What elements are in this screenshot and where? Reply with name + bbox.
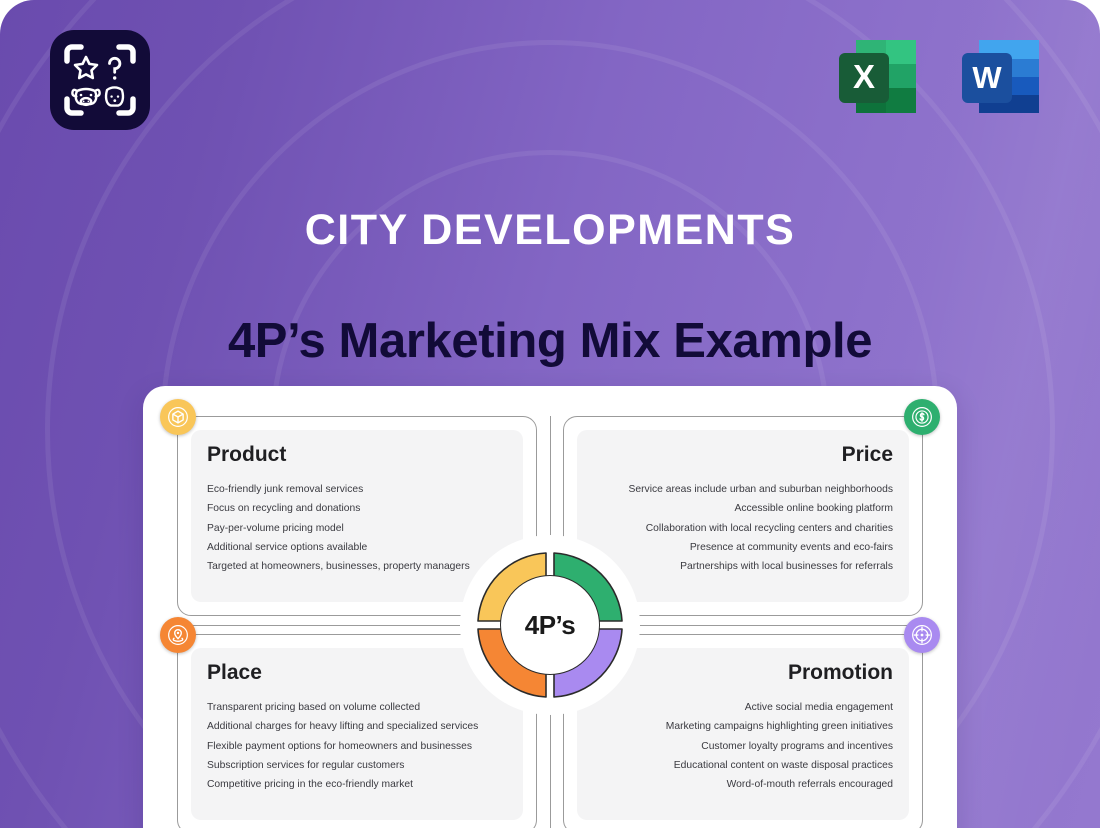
- excel-icon[interactable]: X: [830, 28, 927, 125]
- list-item: Additional charges for heavy lifting and…: [207, 717, 507, 736]
- list-item: Additional service options available: [207, 538, 507, 557]
- page-title: 4P’s Marketing Mix Example: [0, 313, 1100, 369]
- list-item: Active social media engagement: [593, 698, 893, 717]
- quadrant-bullets: Transparent pricing based on volume coll…: [207, 698, 507, 794]
- center-donut: 4P’s: [468, 543, 632, 707]
- quadrant-title: Place: [207, 661, 507, 685]
- donut-center: 4P’s: [500, 575, 600, 675]
- page-kicker: CITY DEVELOPMENTS: [0, 206, 1100, 255]
- list-item: Customer loyalty programs and incentives: [593, 737, 893, 756]
- list-item: Educational content on waste disposal pr…: [593, 756, 893, 775]
- list-item: Eco-friendly junk removal services: [207, 480, 507, 499]
- word-icon[interactable]: W: [953, 28, 1050, 125]
- poster-page: X W CITY DEVELOPMENTS 4P’s Marketing Mix…: [0, 0, 1100, 828]
- location-pin-icon: [160, 617, 196, 653]
- svg-text:X: X: [853, 58, 875, 95]
- list-item: Subscription services for regular custom…: [207, 756, 507, 775]
- list-item: Focus on recycling and donations: [207, 499, 507, 518]
- export-icons: X W: [830, 28, 1050, 125]
- diagram-card: Product Eco-friendly junk removal servic…: [143, 386, 957, 828]
- quadrant-bullets: Active social media engagement Marketing…: [593, 698, 893, 794]
- quadrant-title: Price: [593, 443, 893, 467]
- dollar-coin-icon: [904, 399, 940, 435]
- quadrant-bullets: Service areas include urban and suburban…: [593, 480, 893, 576]
- quiz-scan-logo-icon: [61, 41, 139, 119]
- list-item: Targeted at homeowners, businesses, prop…: [207, 557, 507, 576]
- brand-logo[interactable]: [50, 30, 150, 130]
- list-item: Transparent pricing based on volume coll…: [207, 698, 507, 717]
- list-item: Presence at community events and eco-fai…: [593, 538, 893, 557]
- quadrant-grid: Product Eco-friendly junk removal servic…: [177, 416, 923, 828]
- list-item: Pay-per-volume pricing model: [207, 519, 507, 538]
- quadrant-bullets: Eco-friendly junk removal services Focus…: [207, 480, 507, 576]
- list-item: Collaboration with local recycling cente…: [593, 519, 893, 538]
- quadrant-title: Promotion: [593, 661, 893, 685]
- list-item: Flexible payment options for homeowners …: [207, 737, 507, 756]
- list-item: Marketing campaigns highlighting green i…: [593, 717, 893, 736]
- svg-text:W: W: [972, 60, 1002, 95]
- list-item: Word-of-mouth referrals encouraged: [593, 775, 893, 794]
- list-item: Accessible online booking platform: [593, 499, 893, 518]
- target-crosshair-icon: [904, 617, 940, 653]
- list-item: Competitive pricing in the eco-friendly …: [207, 775, 507, 794]
- quadrant-title: Product: [207, 443, 507, 467]
- box-icon: [160, 399, 196, 435]
- list-item: Partnerships with local businesses for r…: [593, 557, 893, 576]
- list-item: Service areas include urban and suburban…: [593, 480, 893, 499]
- donut-center-label: 4P’s: [525, 610, 576, 641]
